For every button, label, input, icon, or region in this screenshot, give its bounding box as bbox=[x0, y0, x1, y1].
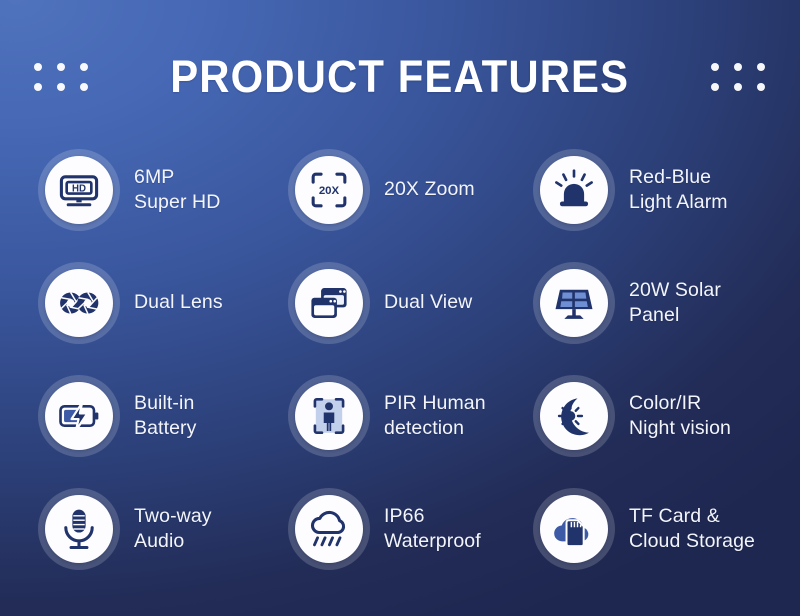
solar-panel-icon bbox=[552, 281, 596, 325]
svg-text:20X: 20X bbox=[319, 184, 340, 196]
feature-item: Built-in Battery bbox=[38, 375, 288, 457]
feature-item: Dual Lens bbox=[38, 262, 288, 344]
feature-label-line1: TF Card & bbox=[629, 505, 720, 527]
feature-label-line2: Waterproof bbox=[384, 529, 481, 554]
feature-label: Color/IR Night vision bbox=[629, 391, 731, 440]
feature-label: TF Card & Cloud Storage bbox=[629, 504, 755, 553]
feature-label: PIR Human detection bbox=[384, 391, 486, 440]
feature-label: Red-Blue Light Alarm bbox=[629, 165, 728, 214]
rain-cloud-icon bbox=[307, 507, 351, 551]
feature-item: Two-way Audio bbox=[38, 488, 288, 570]
svg-text:HD: HD bbox=[72, 183, 86, 194]
feature-icon-badge bbox=[533, 149, 615, 231]
feature-label-line1: 20X Zoom bbox=[384, 178, 475, 200]
feature-label-line1: PIR Human bbox=[384, 392, 486, 414]
feature-label: 20X Zoom bbox=[384, 177, 475, 202]
page-title: PRODUCT FEATURES bbox=[171, 51, 630, 103]
feature-label: Dual View bbox=[384, 290, 472, 315]
feature-label-line2: Panel bbox=[629, 303, 721, 328]
feature-label-line2: Light Alarm bbox=[629, 190, 728, 215]
feature-label-line1: 6MP bbox=[134, 166, 174, 188]
feature-label-line1: Built-in bbox=[134, 392, 194, 414]
features-grid: HD 6MP Super HD 20X bbox=[38, 133, 778, 585]
feature-icon-badge: HD bbox=[38, 149, 120, 231]
zoom-frame-20x-icon: 20X bbox=[307, 168, 351, 212]
feature-item: PIR Human detection bbox=[288, 375, 533, 457]
feature-icon-badge bbox=[533, 375, 615, 457]
feature-label-line2: Cloud Storage bbox=[629, 529, 755, 554]
microphone-icon bbox=[57, 507, 101, 551]
feature-label-line1: Two-way bbox=[134, 505, 212, 527]
dual-window-icon bbox=[307, 281, 351, 325]
feature-label: 6MP Super HD bbox=[134, 165, 220, 214]
feature-label-line1: Color/IR bbox=[629, 392, 701, 414]
feature-label-line1: 20W Solar bbox=[629, 279, 721, 301]
feature-icon-badge bbox=[38, 375, 120, 457]
feature-label-line2: Night vision bbox=[629, 416, 731, 441]
feature-label: 20W Solar Panel bbox=[629, 278, 721, 327]
cloud-sdcard-icon bbox=[552, 507, 596, 551]
feature-icon-badge: 20X bbox=[288, 149, 370, 231]
feature-label: Dual Lens bbox=[134, 290, 223, 315]
poster-header: PRODUCT FEATURES bbox=[0, 44, 800, 110]
feature-label: Two-way Audio bbox=[134, 504, 212, 553]
feature-icon-badge bbox=[38, 488, 120, 570]
feature-item: 20X 20X Zoom bbox=[288, 149, 533, 231]
feature-icon-badge bbox=[288, 488, 370, 570]
feature-label-line2: Battery bbox=[134, 416, 196, 441]
feature-icon-badge bbox=[288, 375, 370, 457]
dot-grid-icon-right bbox=[711, 63, 766, 92]
hd-monitor-icon: HD bbox=[57, 168, 101, 212]
feature-label-line1: Red-Blue bbox=[629, 166, 711, 188]
feature-item: IP66 Waterproof bbox=[288, 488, 533, 570]
feature-label: IP66 Waterproof bbox=[384, 504, 481, 553]
dual-aperture-icon bbox=[57, 281, 101, 325]
feature-label: Built-in Battery bbox=[134, 391, 196, 440]
dot-grid-icon-left bbox=[34, 63, 89, 92]
feature-label-line2: detection bbox=[384, 416, 486, 441]
feature-item: Color/IR Night vision bbox=[533, 375, 778, 457]
feature-item: Red-Blue Light Alarm bbox=[533, 149, 778, 231]
feature-icon-badge bbox=[38, 262, 120, 344]
feature-icon-badge bbox=[533, 262, 615, 344]
feature-item: HD 6MP Super HD bbox=[38, 149, 288, 231]
sun-moon-icon bbox=[552, 394, 596, 438]
feature-label-line1: Dual Lens bbox=[134, 291, 223, 313]
feature-item: TF Card & Cloud Storage bbox=[533, 488, 778, 570]
feature-icon-badge bbox=[288, 262, 370, 344]
feature-label-line1: IP66 bbox=[384, 505, 425, 527]
feature-label-line2: Audio bbox=[134, 529, 212, 554]
product-features-poster: PRODUCT FEATURES HD 6MP Super HD bbox=[0, 0, 800, 616]
battery-bolt-icon bbox=[57, 394, 101, 438]
feature-item: 20W Solar Panel bbox=[533, 262, 778, 344]
feature-item: Dual View bbox=[288, 262, 533, 344]
person-detection-icon bbox=[307, 394, 351, 438]
siren-beacon-icon bbox=[552, 168, 596, 212]
feature-label-line2: Super HD bbox=[134, 190, 220, 215]
feature-label-line1: Dual View bbox=[384, 291, 472, 313]
feature-icon-badge bbox=[533, 488, 615, 570]
